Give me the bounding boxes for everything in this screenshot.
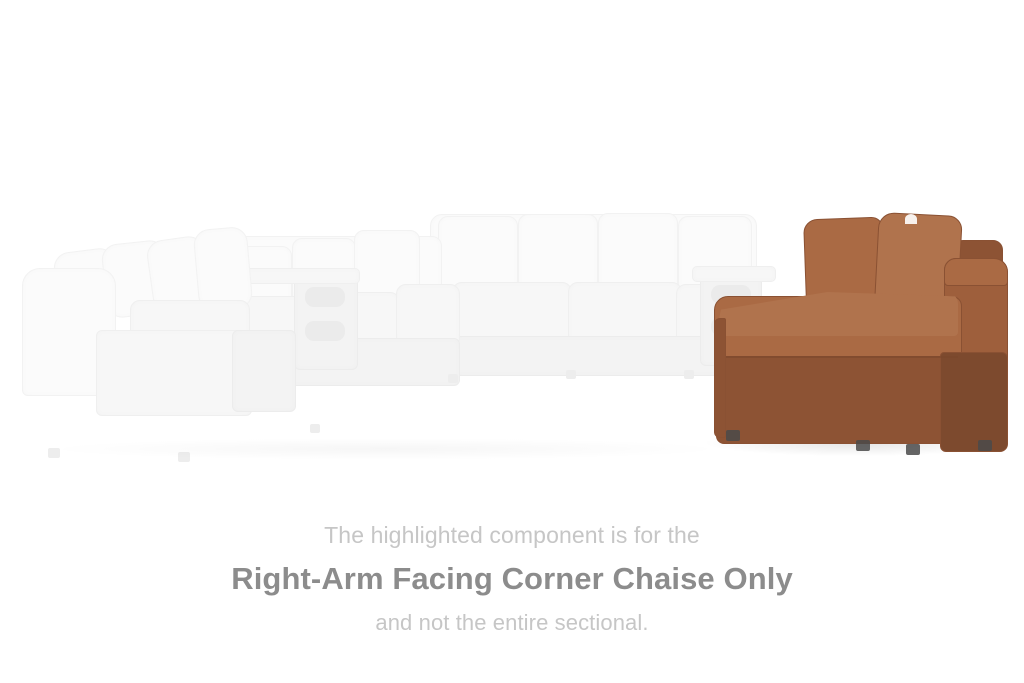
- chaise-base: [716, 356, 962, 444]
- ghost-foot: [566, 370, 576, 379]
- chaise-base-right-return: [940, 352, 1008, 452]
- chaise-back-cushion-notch: [905, 214, 917, 224]
- sectional-sofa-scene: [0, 0, 1024, 500]
- cup-holder-recess: [305, 321, 345, 341]
- cup-holder-recess: [305, 287, 345, 307]
- ghost-foot: [684, 370, 694, 379]
- ghost-loveseat-base-shadow: [232, 330, 296, 412]
- chaise-right-arm-top: [944, 258, 1008, 286]
- ghost-console-right-top: [692, 266, 776, 282]
- caption-line-1: The highlighted component is for the: [0, 520, 1024, 551]
- caption-line-2: Right-Arm Facing Corner Chaise Only: [0, 557, 1024, 601]
- chaise-foot: [978, 440, 992, 451]
- ghost-console-left: [294, 272, 358, 370]
- chaise-open-side-edge: [714, 318, 726, 438]
- caption-line-3: and not the entire sectional.: [0, 608, 1024, 638]
- component-callout-caption: The highlighted component is for the Rig…: [0, 520, 1024, 638]
- chaise-foot: [856, 440, 870, 451]
- chaise-foot: [726, 430, 740, 441]
- ghost-foot: [448, 374, 458, 383]
- ghost-foot: [310, 424, 320, 433]
- chaise-seam-line: [718, 356, 958, 358]
- ghost-contact-shadow: [40, 438, 730, 460]
- chaise-foot: [906, 444, 920, 455]
- product-image-stage: The highlighted component is for the Rig…: [0, 0, 1024, 683]
- ghost-loveseat-base: [96, 330, 252, 416]
